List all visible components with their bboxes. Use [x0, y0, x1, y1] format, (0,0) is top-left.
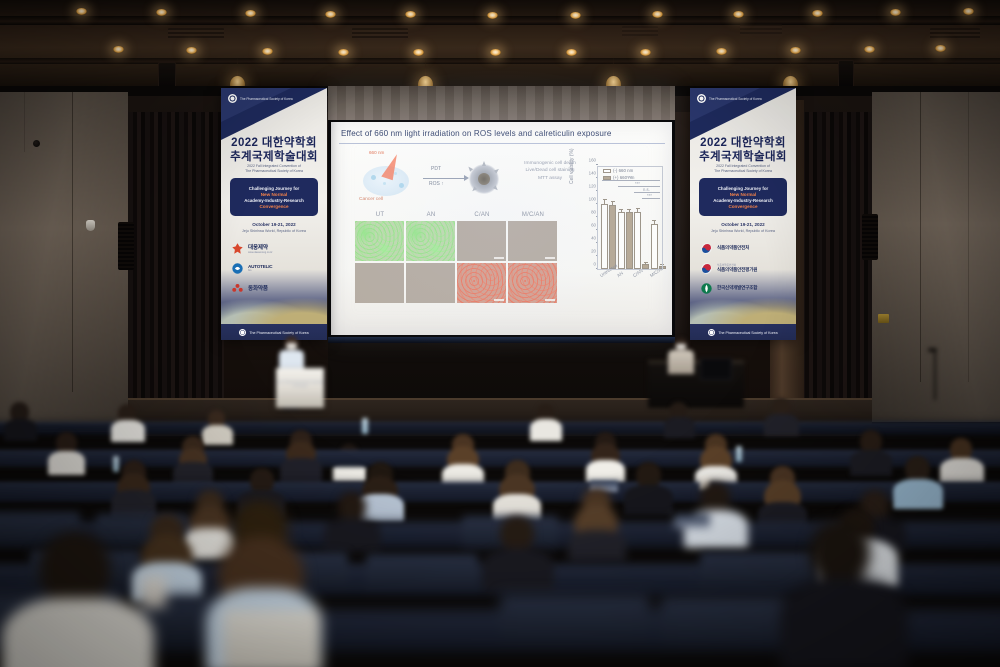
micro-col-1: AN [406, 212, 456, 218]
chart-y-tick: 140 [589, 171, 596, 176]
banner-right-footer-text: The Pharmaceutical Society of Korea [718, 331, 777, 335]
chart-bar [609, 205, 616, 269]
micro-cell-dead-an [406, 263, 455, 303]
water-bottle [736, 446, 742, 462]
slide-title-rule [339, 143, 665, 144]
laptop [674, 514, 710, 528]
microphone-head-icon [928, 348, 937, 352]
banner-left-sponsor-0: 대웅제약 www.daewoong.co.kr [231, 240, 317, 256]
session-chair [668, 338, 694, 372]
screen-bottom-edge [328, 337, 675, 343]
chart-bar [642, 264, 649, 269]
micro-col-3: M/C/AN [508, 212, 558, 218]
autotelic-logo-icon [231, 262, 244, 275]
cancer-cell-label: Cancer cell [359, 197, 383, 202]
chart-bar [618, 212, 625, 269]
banner-left-theme-3: Academy-Industry-Research [244, 198, 304, 203]
micro-cell-dead-ut [355, 263, 404, 303]
chart-bar [634, 212, 641, 269]
screen-upper-blank-area [328, 86, 675, 120]
cell-viability-chart: Cell viability (%) 020406080100120140160… [575, 158, 667, 318]
chart-x-tick: C/AN [632, 268, 644, 278]
chart-y-tick: 60 [591, 223, 596, 228]
chart-y-tick: 80 [591, 210, 596, 215]
chart-x-tick: AN [616, 270, 624, 278]
banner-left-sponsor-2-name: 동화약품 [248, 284, 268, 292]
smoke-detector-left [86, 220, 95, 231]
chart-y-tick: 0 [594, 262, 596, 267]
chart-significance-label: *** [647, 193, 652, 198]
exit-sign [878, 314, 889, 323]
coffee-cup [142, 576, 166, 608]
wall-right [872, 92, 1000, 422]
chair-monitor [700, 358, 732, 380]
micro-cell-live-ut [355, 221, 404, 261]
slide-title: Effect of 660 nm light irradiation on RO… [341, 129, 665, 138]
projection-screen: Effect of 660 nm light irradiation on RO… [328, 86, 675, 339]
society-emblem-icon-right [697, 94, 706, 103]
wall-speaker-left [118, 222, 134, 270]
banner-left: The Pharmaceutical Society of Korea 2022… [221, 88, 327, 340]
micro-col-0: UT [355, 212, 405, 218]
nifds-logo-icon [700, 262, 713, 275]
kdra-logo-icon [700, 282, 713, 295]
banner-left-sponsor-0-sub: www.daewoong.co.kr [248, 251, 273, 254]
banner-right-subtitle: 2022 Fall Integrated Convention of The P… [696, 164, 790, 173]
banner-left-subtitle-2: The Pharmaceutical Society of Korea [227, 169, 321, 174]
banner-left-footer-text: The Pharmaceutical Society of Korea [249, 331, 308, 335]
banner-left-theme-1: Challenging Journey for [249, 186, 300, 191]
banner-left-theme-4: Convergence [259, 204, 288, 209]
micro-cell-dead-mcan [508, 263, 557, 303]
banner-right-theme-4: Convergence [728, 204, 757, 209]
presentation-slide: Effect of 660 nm light irradiation on RO… [331, 122, 672, 335]
micro-cell-dead-can [457, 263, 506, 303]
mfds-logo-icon [700, 242, 713, 255]
micro-cell-live-can [457, 221, 506, 261]
microscopy-grid: UT AN C/AN M/C/AN Live Dead [355, 212, 561, 318]
microphone-stand [934, 352, 936, 400]
session-chair-body [668, 350, 694, 374]
banner-left-title-2: 추계국제학술대회 [221, 148, 327, 164]
banner-left-logo-text: The Pharmaceutical Society of Korea [240, 97, 293, 101]
legend-label-1: (+) 660 nm [613, 175, 634, 180]
banner-left-venue: Jeju Shinhwa World, Republic of Korea [225, 229, 323, 233]
chart-y-tick: 20 [591, 249, 596, 254]
water-bottle [113, 456, 119, 472]
banner-right-theme-1: Challenging Journey for [718, 186, 769, 191]
banner-right-sponsor-1-name: 식품의약품안전평가원 [717, 267, 757, 273]
banner-right-venue: Jeju Shinhwa World, Republic of Korea [694, 229, 792, 233]
wall-speaker-right [862, 214, 878, 260]
chart-bar [626, 212, 633, 269]
ros-label: ROS ↑ [429, 181, 444, 187]
chart-y-tick: 160 [589, 158, 596, 163]
banner-right-theme-2: New Normal [730, 192, 757, 197]
banner-right-society-logo: The Pharmaceutical Society of Korea [697, 94, 762, 103]
banner-right-logo-text: The Pharmaceutical Society of Korea [709, 97, 762, 101]
banner-right: The Pharmaceutical Society of Korea 2022… [690, 88, 796, 340]
chart-significance-label: n.s. [643, 187, 650, 192]
banner-right-sponsor-0: 식품의약품안전처 [700, 240, 786, 256]
ceiling-speaker-right [838, 60, 854, 88]
audience-seating [0, 404, 1000, 667]
daewoong-logo-icon [231, 242, 244, 255]
wall-hole-left [33, 140, 40, 147]
stage-curtain-left [128, 112, 224, 402]
chart-legend: (-) 660 nm (+) 660 nm [603, 168, 643, 182]
banner-left-sponsor-1: AUTOTELIC bio [231, 260, 317, 276]
slide-schematic: 660 nm Cancer cell PDT ROS ↑ [349, 150, 569, 204]
tote-bag-foreground [224, 610, 320, 667]
pdt-label: PDT [431, 166, 441, 172]
banner-left-sponsor-1-sub: bio [248, 269, 272, 272]
banner-left-sponsor-0-name: 대웅제약 [248, 243, 273, 251]
conference-hall-scene: Effect of 660 nm light irradiation on RO… [0, 0, 1000, 667]
society-emblem-icon-footer-right [708, 329, 715, 336]
banner-right-footer: The Pharmaceutical Society of Korea [690, 329, 796, 336]
chart-bar [651, 224, 658, 270]
wall-left [0, 92, 128, 432]
banner-left-footer: The Pharmaceutical Society of Korea [221, 329, 327, 336]
banner-right-title-2: 추계국제학술대회 [690, 148, 796, 164]
society-emblem-icon [228, 94, 237, 103]
micro-col-2: C/AN [457, 212, 507, 218]
banner-left-subtitle: 2022 Fall Integrated Convention of The P… [227, 164, 321, 173]
banner-right-sponsor-1: 식품의약품안전처 식품의약품안전평가원 [700, 260, 786, 276]
chart-y-tick: 40 [591, 236, 596, 241]
chart-y-tick: 100 [589, 197, 596, 202]
water-bottle [362, 418, 368, 434]
banner-right-theme-3: Academy-Industry-Research [713, 198, 773, 203]
banner-left-sponsor-1-name: AUTOTELIC [248, 264, 272, 269]
banner-left-theme-box: Challenging Journey for New Normal Acade… [230, 178, 318, 216]
lectern: The Pharmaceutical Society of Korea [276, 368, 324, 408]
banner-right-subtitle-2: The Pharmaceutical Society of Korea [696, 169, 790, 174]
chart-y-tick: 120 [589, 184, 596, 189]
dying-cell-illustration [469, 164, 499, 194]
legend-label-0: (-) 660 nm [613, 168, 633, 173]
banner-left-theme-2: New Normal [261, 192, 288, 197]
micro-cell-live-mcan [508, 221, 557, 261]
banner-right-sponsor-2-name: 한국신약개발연구조합 [717, 285, 757, 291]
slide-body: 660 nm Cancer cell PDT ROS ↑ [331, 146, 672, 335]
chart-bar [601, 204, 608, 269]
banner-right-date: October 19-21, 2022 [696, 222, 790, 227]
banner-left-society-logo: The Pharmaceutical Society of Korea [228, 94, 293, 103]
presenter-face-mask [286, 343, 297, 349]
banner-left-date: October 19-21, 2022 [227, 222, 321, 227]
schematic-light-label: 660 nm [369, 150, 384, 155]
banner-right-sponsor-0-name: 식품의약품안전처 [717, 245, 749, 251]
society-emblem-icon-footer [239, 329, 246, 336]
chart-y-axis-label: Cell viability (%) [569, 148, 575, 184]
session-chair-mask [676, 344, 686, 349]
banner-right-theme-box: Challenging Journey for New Normal Acade… [699, 178, 787, 216]
dongwha-logo-icon [231, 282, 244, 295]
lectern-label: The Pharmaceutical Society of Korea [276, 380, 324, 388]
micro-cell-live-an [406, 221, 455, 261]
